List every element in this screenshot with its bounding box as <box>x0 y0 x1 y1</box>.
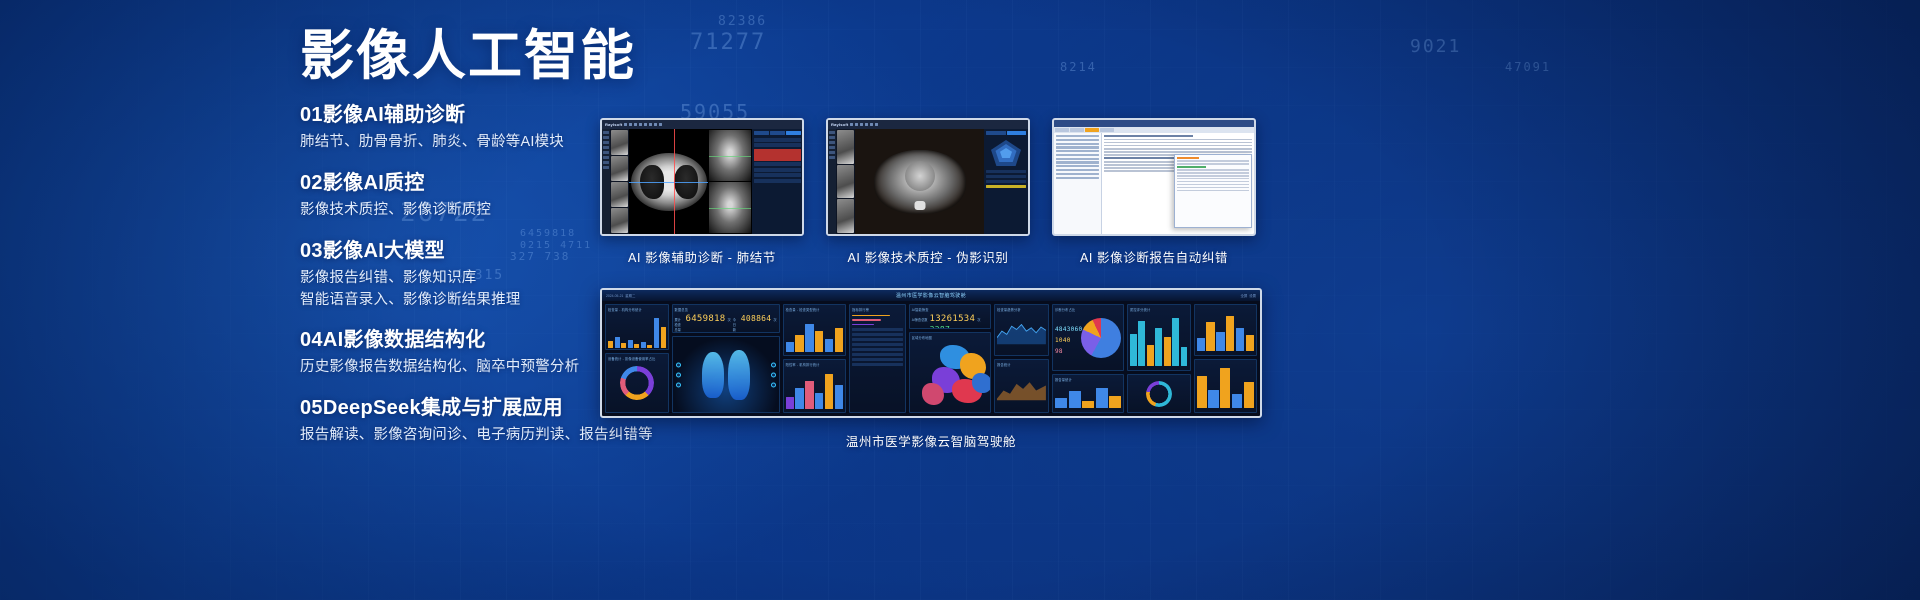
line-chart <box>997 314 1046 350</box>
series-thumbnail[interactable] <box>611 182 628 207</box>
bar <box>641 342 646 347</box>
bar <box>1197 376 1207 408</box>
bar <box>1208 390 1218 408</box>
bar-chart <box>1197 362 1255 408</box>
body-node-icon[interactable] <box>676 362 681 367</box>
panel-button-primary[interactable] <box>786 131 801 135</box>
bar <box>621 343 626 348</box>
dashboard-title: 温州市医学影像云智脑驾驶舱 <box>896 292 966 299</box>
kpi-row: AI筛查总数 13261534 次 <box>912 314 988 324</box>
feature-title-text: 影像AI大模型 <box>323 240 445 262</box>
panel-button[interactable] <box>770 131 785 135</box>
panel-positive-rate[interactable]: 阳性率 - 机构排行统计 <box>783 359 847 413</box>
pie-legend: 4843060 1040 98 <box>1055 320 1081 355</box>
feature-number: 01 <box>300 104 323 126</box>
toolbar-icon[interactable] <box>865 123 868 126</box>
panel-exam-type[interactable]: 检查量 - 检查类型统计 <box>783 304 847 356</box>
toolbar-icon[interactable] <box>629 123 632 126</box>
donut-chart <box>1146 381 1172 407</box>
report-text-line <box>1104 148 1252 150</box>
toolbar-icon[interactable] <box>860 123 863 126</box>
bar <box>1096 388 1108 408</box>
kpi-label: 累计检查总量 <box>675 317 684 332</box>
bar-chart <box>786 369 844 409</box>
dashboard-header-right-label: 全屏 设置 <box>1241 293 1256 298</box>
tree-node[interactable] <box>1056 150 1099 152</box>
report-tab[interactable] <box>1055 128 1069 132</box>
dashboard-column-4: 指标排行榜 <box>849 304 906 413</box>
panel-report-volume[interactable]: 报告量统计 <box>1052 374 1124 413</box>
chest-ct-image <box>874 150 966 214</box>
app-titlebar: RayIsoft <box>602 120 802 129</box>
panel-qc-score[interactable]: 质控评分统计 <box>1127 304 1191 371</box>
bar <box>795 335 803 352</box>
panel-button[interactable] <box>1007 131 1027 135</box>
area-shape <box>997 382 1046 400</box>
ai-findings-panel[interactable] <box>752 129 802 234</box>
toolbar-icon[interactable] <box>875 123 878 126</box>
bar <box>1220 368 1230 408</box>
bar <box>1155 328 1162 365</box>
ranking-bar <box>852 324 874 325</box>
popup-text-line <box>1177 181 1249 183</box>
donut-chart <box>620 366 654 400</box>
qc-result-row[interactable] <box>986 175 1026 178</box>
bar <box>647 345 652 348</box>
bar <box>1055 398 1067 408</box>
panel-diagnosis-share[interactable]: 诊断分布占比 4843060 1040 98 <box>1052 304 1124 371</box>
ranking-row[interactable] <box>852 348 903 351</box>
pie-chart <box>1081 318 1121 358</box>
screenshot-gallery: RayIsoft <box>600 118 1300 266</box>
bar-chart <box>1197 307 1255 351</box>
feature-desc-line: 影像报告纠错、影像知识库 <box>300 268 660 290</box>
feature-title-text: DeepSeek集成与扩展应用 <box>323 397 563 419</box>
screenshot-card-report[interactable]: AI 影像诊断报告自动纠错 <box>1052 118 1256 266</box>
app-titlebar: RayIsoft <box>828 120 1028 129</box>
screenshot-caption: AI 影像诊断报告自动纠错 <box>1052 247 1256 266</box>
page-title: 影像人工智能 <box>300 26 660 86</box>
rail-icon[interactable] <box>603 141 609 144</box>
panel-title: 设备统计 - 影像设备使用率占比 <box>608 356 655 361</box>
panel-volume-trend[interactable]: 检查量趋势分析 <box>994 304 1049 356</box>
worklist-tree[interactable] <box>1054 133 1102 234</box>
bar <box>805 324 813 351</box>
ranking-row[interactable] <box>852 343 903 346</box>
series-thumbnail[interactable] <box>611 208 628 233</box>
dashboard-grid: 检查量 - 机构分布统计 设备统计 - 影像设备使用率占比 <box>602 301 1260 416</box>
tree-node[interactable] <box>1056 143 1099 145</box>
toolbar-icon[interactable] <box>639 123 642 126</box>
kpi-row: 累计检查总量 6459818 次 今日新增 408864 次 <box>675 314 777 334</box>
rail-icon[interactable] <box>603 156 609 159</box>
dashboard-header-left-label: 2024-05-21 星期二 <box>606 293 635 298</box>
series-thumbnail[interactable] <box>837 130 854 164</box>
popup-text-line <box>1177 175 1249 177</box>
bar <box>835 328 843 352</box>
kpi-value: 408864 <box>741 314 772 323</box>
panel-title: 检查量趋势分析 <box>997 307 1046 312</box>
kpi-unit: 次 <box>728 317 731 322</box>
kpi-label: 今日新增 <box>733 317 739 334</box>
finding-row[interactable] <box>754 143 801 147</box>
rail-icon[interactable] <box>829 141 835 144</box>
panel-title: 质控评分统计 <box>1130 307 1188 312</box>
popup-text-line <box>1177 190 1249 192</box>
bar <box>661 327 666 347</box>
bar <box>1082 401 1094 408</box>
bar <box>1109 396 1121 408</box>
correction-popup[interactable] <box>1174 154 1252 228</box>
tree-node[interactable] <box>1056 161 1099 163</box>
panel-title: 检查量 - 机构分布统计 <box>608 307 666 312</box>
feature-title-text: AI影像数据结构化 <box>323 329 486 351</box>
qc-viewer-app: RayIsoft <box>828 120 1028 234</box>
kpi-unit: 次 <box>773 317 776 322</box>
report-tab-active[interactable] <box>1085 128 1099 132</box>
bar-chart <box>1055 384 1121 408</box>
kpi-value: 3287 <box>930 325 950 330</box>
tree-node[interactable] <box>1056 154 1099 156</box>
ranking-bar <box>852 319 881 320</box>
bar <box>654 318 659 348</box>
screenshot-frame[interactable]: RayIsoft <box>826 118 1030 236</box>
body-node-icon[interactable] <box>676 372 681 377</box>
map-region[interactable] <box>972 373 991 393</box>
app-logo: RayIsoft <box>831 122 848 127</box>
ct-axial-view[interactable] <box>629 129 708 234</box>
ranking-row[interactable] <box>852 333 903 336</box>
area-chart <box>997 369 1046 407</box>
rail-icon[interactable] <box>829 146 835 149</box>
panel-institution-volume[interactable]: 检查量 - 机构分布统计 <box>605 304 669 350</box>
tree-node[interactable] <box>1056 165 1099 167</box>
finding-row[interactable] <box>754 179 801 183</box>
bar-chart <box>786 314 844 352</box>
screenshot-card-qc[interactable]: RayIsoft <box>826 118 1030 266</box>
app-titlebar <box>1054 120 1254 127</box>
qc-result-row-warning[interactable] <box>986 185 1026 188</box>
panel-extra-bar-2[interactable] <box>1194 359 1258 413</box>
panel-title: 数据总览 <box>675 307 777 312</box>
panel-donut-secondary[interactable] <box>1127 374 1191 413</box>
series-thumbnail[interactable] <box>611 130 628 155</box>
panel-human-body-model[interactable] <box>672 336 780 413</box>
kpi-row: 今日筛查数 3287 次 <box>912 325 988 330</box>
tree-node[interactable] <box>1056 135 1099 137</box>
bar <box>628 340 633 347</box>
body-node-icon[interactable] <box>771 362 776 367</box>
panel-title: 指标排行榜 <box>852 307 903 312</box>
toolbar-icon[interactable] <box>659 123 662 126</box>
bar <box>1164 337 1171 365</box>
bar <box>835 385 843 408</box>
dashboard-column-2: 数据总览 累计检查总量 6459818 次 今日新增 408864 次 云胶片总… <box>672 304 780 413</box>
bar <box>1216 332 1224 351</box>
bar <box>1130 334 1137 365</box>
bar <box>608 341 613 347</box>
bar <box>1172 318 1179 366</box>
series-thumbnail[interactable] <box>837 199 854 233</box>
series-thumbnail[interactable] <box>611 156 628 181</box>
rail-icon[interactable] <box>603 151 609 154</box>
tool-rail[interactable] <box>602 129 610 234</box>
dashboard-column-3: 检查量 - 检查类型统计 阳性率 - 机构排行统计 <box>783 304 847 413</box>
body-node-column-right <box>771 362 776 387</box>
popup-text-line <box>1177 187 1249 189</box>
rail-icon[interactable] <box>603 161 609 164</box>
bar <box>1232 394 1242 408</box>
panel-button-row[interactable] <box>754 131 801 135</box>
dashboard-column-8: 质控评分统计 <box>1127 304 1191 413</box>
feature-number: 02 <box>300 172 323 194</box>
panel-extra-bar-1[interactable] <box>1194 304 1258 356</box>
panel-title: AI智能筛查 <box>912 307 988 312</box>
screenshot-caption: AI 影像辅助诊断 - 肺结节 <box>600 247 804 266</box>
bar <box>615 337 620 347</box>
ct-sagittal-view[interactable] <box>709 182 751 233</box>
toolbar-icon[interactable] <box>855 123 858 126</box>
tree-node[interactable] <box>1056 146 1099 148</box>
ct-viewer-app: RayIsoft <box>602 120 802 234</box>
panel-ranking[interactable]: 指标排行榜 <box>849 304 906 413</box>
screenshot-card-diagnosis[interactable]: RayIsoft <box>600 118 804 266</box>
bar <box>825 339 833 352</box>
ranking-row[interactable] <box>852 338 903 341</box>
human-figure-left <box>702 352 724 398</box>
bar <box>1244 382 1254 408</box>
app-workspace <box>602 129 802 234</box>
feature-title-text: 影像AI辅助诊断 <box>323 104 465 126</box>
report-tab[interactable] <box>1070 128 1084 132</box>
bar <box>825 374 833 408</box>
kpi-label: 今日筛查数 <box>912 328 928 330</box>
report-text-line <box>1104 151 1252 153</box>
ct-coronal-view[interactable] <box>709 130 751 181</box>
panel-data-overview[interactable]: 数据总览 累计检查总量 6459818 次 今日新增 408864 次 云胶片总… <box>672 304 780 333</box>
kpi-unit: 次 <box>977 317 980 322</box>
radar-chart <box>986 138 1026 168</box>
screenshot-caption: AI 影像技术质控 - 伪影识别 <box>826 247 1030 266</box>
bar <box>1236 328 1244 351</box>
bar <box>1197 338 1205 351</box>
rail-icon[interactable] <box>829 131 835 134</box>
panel-ai-screening[interactable]: AI智能筛查 AI筛查总数 13261534 次 今日筛查数 3287 次 <box>909 304 991 329</box>
panel-button-row[interactable] <box>986 131 1026 135</box>
series-thumbnail[interactable] <box>837 165 854 199</box>
bar <box>1069 391 1081 408</box>
popup-text-line <box>1177 184 1249 186</box>
bar <box>805 381 813 409</box>
feature-number: 03 <box>300 240 323 262</box>
toolbar-icon[interactable] <box>870 123 873 126</box>
bar <box>1206 322 1214 351</box>
panel-title: 阳性率 - 机构排行统计 <box>786 362 844 367</box>
ct-secondary-views[interactable] <box>708 129 752 234</box>
bar-chart <box>1130 314 1188 366</box>
body-node-icon[interactable] <box>771 372 776 377</box>
ranking-row[interactable] <box>852 328 903 331</box>
kpi-label: AI筛查总数 <box>912 317 928 322</box>
bar <box>1226 316 1234 351</box>
ct-chest-view[interactable] <box>855 129 984 234</box>
screenshot-frame[interactable]: RayIsoft <box>600 118 804 236</box>
report-text-line <box>1104 145 1252 147</box>
dashboard-caption: 温州市医学影像云智脑驾驶舱 <box>600 431 1262 450</box>
bar <box>815 331 823 352</box>
dashboard-screenshot[interactable]: 2024-05-21 星期二 温州市医学影像云智脑驾驶舱 全屏 设置 检查量 -… <box>600 288 1262 418</box>
dashboard-column-7: 诊断分布占比 4843060 1040 98 报告量统计 <box>1052 304 1124 413</box>
body-node-icon[interactable] <box>676 382 681 387</box>
dashboard-header: 2024-05-21 星期二 温州市医学影像云智脑驾驶舱 全屏 设置 <box>602 290 1260 301</box>
qc-score-panel[interactable] <box>984 129 1028 234</box>
popup-text-line <box>1177 172 1249 174</box>
trend-area <box>997 324 1046 344</box>
finding-row[interactable] <box>754 173 801 177</box>
panel-title: 报告统计 <box>997 362 1046 367</box>
tool-rail[interactable] <box>828 129 836 234</box>
series-thumbnail-list[interactable] <box>836 129 855 234</box>
pie-kpi-value: 1040 <box>1055 337 1081 344</box>
ranking-bar <box>852 315 889 316</box>
bar <box>1181 347 1188 366</box>
ranking-row[interactable] <box>852 363 903 366</box>
panel-button-primary[interactable] <box>986 131 1006 135</box>
kpi-value: 6459818 <box>686 314 726 324</box>
qc-result-row[interactable] <box>986 180 1026 183</box>
panel-title: 报告量统计 <box>1055 377 1121 382</box>
rail-icon[interactable] <box>603 131 609 134</box>
qc-result-row[interactable] <box>986 170 1026 173</box>
panel-report-stats[interactable]: 报告统计 <box>994 359 1049 413</box>
tree-node[interactable] <box>1056 139 1099 141</box>
finding-row-selected[interactable] <box>754 149 801 161</box>
report-app <box>1054 120 1254 234</box>
panel-button[interactable] <box>754 131 769 135</box>
screenshot-frame[interactable] <box>1052 118 1256 236</box>
dashboard-column-9 <box>1194 304 1258 413</box>
report-text-line <box>1104 139 1252 141</box>
finding-row[interactable] <box>754 138 801 142</box>
ranking-row[interactable] <box>852 358 903 361</box>
map-region[interactable] <box>922 383 944 405</box>
toolbar-icon[interactable] <box>644 123 647 126</box>
report-tab[interactable] <box>1100 128 1114 132</box>
body-node-icon[interactable] <box>771 382 776 387</box>
ranking-row[interactable] <box>852 353 903 356</box>
tree-node[interactable] <box>1056 173 1099 175</box>
bar <box>786 342 794 352</box>
panel-region-map[interactable]: 区域分布地图 <box>909 332 991 413</box>
toolbar-icon[interactable] <box>624 123 627 126</box>
panel-title: 区域分布地图 <box>912 335 932 340</box>
bar <box>1138 321 1145 366</box>
popup-text-line <box>1177 169 1249 171</box>
dashboard-section: 2024-05-21 星期二 温州市医学影像云智脑驾驶舱 全屏 设置 检查量 -… <box>600 288 1262 450</box>
toolbar-icon[interactable] <box>649 123 652 126</box>
dashboard-column-1: 检查量 - 机构分布统计 设备统计 - 影像设备使用率占比 <box>605 304 669 413</box>
rail-icon[interactable] <box>829 156 835 159</box>
bar <box>1147 345 1154 366</box>
feature-title-text: 影像AI质控 <box>323 172 425 194</box>
finding-row[interactable] <box>754 168 801 172</box>
human-figure-right <box>728 350 750 400</box>
tree-node[interactable] <box>1056 158 1099 160</box>
rail-icon[interactable] <box>829 136 835 139</box>
bar <box>786 397 794 409</box>
series-thumbnail-list[interactable] <box>610 129 629 234</box>
dashboard-column-6: 检查量趋势分析 报告统计 <box>994 304 1049 413</box>
kpi-unit: 次 <box>952 328 955 330</box>
popup-accept-badge[interactable] <box>1177 166 1206 168</box>
panel-title: 检查量 - 检查类型统计 <box>786 307 844 312</box>
kpi-value: 13261534 <box>930 314 976 324</box>
dashboard-column-5: AI智能筛查 AI筛查总数 13261534 次 今日筛查数 3287 次 区域… <box>909 304 991 413</box>
pie-kpi-value: 98 <box>1055 348 1081 355</box>
bar <box>815 393 823 409</box>
bar-chart <box>608 314 666 348</box>
pie-kpi-value: 4843060 <box>1055 326 1081 333</box>
popup-text-line <box>1177 163 1249 165</box>
report-text-line <box>1104 142 1252 144</box>
panel-title: 诊断分布占比 <box>1055 307 1075 312</box>
rail-icon[interactable] <box>603 136 609 139</box>
popup-text-line <box>1177 178 1249 180</box>
panel-device-usage[interactable]: 设备统计 - 影像设备使用率占比 <box>605 353 669 413</box>
body-node-column-left <box>676 362 681 387</box>
crosshair-horizontal <box>629 182 708 183</box>
tree-node[interactable] <box>1056 169 1099 171</box>
popup-action-badge[interactable] <box>1177 157 1199 159</box>
feature-number: 05 <box>300 397 323 419</box>
tree-node[interactable] <box>1056 177 1099 179</box>
app-logo: RayIsoft <box>605 122 622 127</box>
rail-icon[interactable] <box>829 151 835 154</box>
bar <box>1246 335 1254 351</box>
crosshair-vertical <box>674 129 675 234</box>
report-heading-line <box>1104 135 1193 137</box>
bar <box>634 344 639 347</box>
toolbar-icon[interactable] <box>634 123 637 126</box>
rail-icon[interactable] <box>603 146 609 149</box>
finding-row[interactable] <box>754 162 801 166</box>
popup-text-line <box>1177 160 1249 162</box>
feature-number: 04 <box>300 329 323 351</box>
bar <box>795 388 803 409</box>
app-workspace <box>828 129 1028 234</box>
toolbar-icon[interactable] <box>850 123 853 126</box>
rail-icon[interactable] <box>603 166 609 169</box>
toolbar-icon[interactable] <box>654 123 657 126</box>
